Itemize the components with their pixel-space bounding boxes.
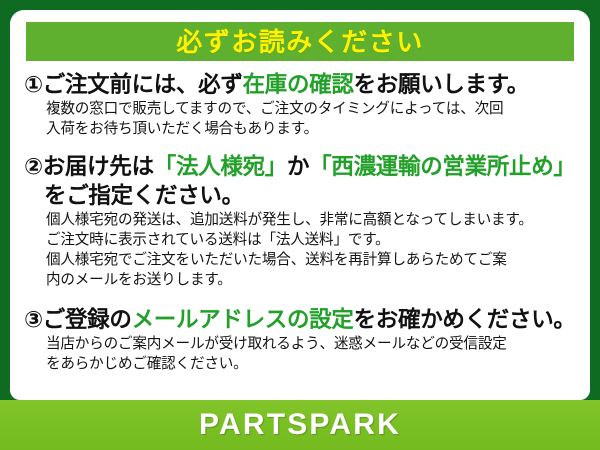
notice-item-2-head-part-3: か [287,154,309,179]
notice-items: ①ご注文前には、必ず在庫の確認をお願いします。 複数の窓口で販売してますので、ご… [24,68,582,377]
notice-item-3-body-line-2: をあらかじめご確認ください。 [46,355,582,375]
notice-item-2-heading: ②お届け先は「法人様宛」か「西濃運輸の営業所止め」 をご指定ください。 [24,152,582,211]
notice-item-2-body-line-4: 内のメールをお送りします。 [46,271,582,291]
notice-item-2-head-highlight-2: 「西濃運輸の営業所止め」 [309,154,575,179]
notice-item-1-marker: ① [24,72,43,97]
notice-item-1-body-line-1: 複数の窓口で販売してますので、ご注文のタイミングによっては、次回 [46,100,582,120]
notice-item-1-heading: ①ご注文前には、必ず在庫の確認をお願いします。 [24,70,582,99]
notice-item-1: ①ご注文前には、必ず在庫の確認をお願いします。 複数の窓口で販売してますので、ご… [24,70,582,140]
notice-item-3-heading: ③ご登録のメールアドレスの設定をお確かめください。 [24,305,582,334]
notice-item-1-body-line-2: 入荷をお待ち頂いただく場合もあります。 [46,120,582,140]
notice-item-2-body-line-1: 個人様宅宛の発送は、追加送料が発生し、非常に高額となってしまいます。 [46,211,582,231]
notice-item-3-head-part-3: をお確かめください。 [354,307,576,332]
notice-item-3-head-highlight: メールアドレスの設定 [132,307,354,332]
notice-item-2-head-continuation: をご指定ください。 [24,181,582,210]
notice-item-3: ③ご登録のメールアドレスの設定をお確かめください。 当店からのご案内メールが受け… [24,305,582,375]
notice-item-2-body-line-2: ご注文時に表示されている送料は「法人送料」です。 [46,231,582,251]
brand-name: PARTSPARK [199,410,401,440]
notice-title-banner: 必ずお読みください [26,22,574,61]
notice-item-3-body-line-1: 当店からのご案内メールが受け取れるよう、迷惑メールなどの受信設定 [46,335,582,355]
notice-item-2-head-highlight-1: 「法人様宛」 [154,154,287,179]
notice-item-3-head-part-1: ご登録の [43,307,132,332]
notice-item-1-head-part-3: をお願いします。 [354,72,529,97]
brand-footer: PARTSPARK [0,400,600,450]
notice-item-1-head-part-1: ご注文前には、必ず [43,72,243,97]
notice-card: 必ずお読みください ①ご注文前には、必ず在庫の確認をお願いします。 複数の窓口で… [0,0,600,450]
notice-item-2-body: 個人様宅宛の発送は、追加送料が発生し、非常に高額となってしまいます。 ご注文時に… [24,211,582,290]
notice-item-2-marker: ② [24,154,43,179]
page-title: 必ずお読みください [176,29,424,55]
notice-item-2: ②お届け先は「法人様宛」か「西濃運輸の営業所止め」 をご指定ください。 個人様宅… [24,152,582,291]
notice-item-3-marker: ③ [24,307,43,332]
notice-item-2-body-line-3: 個人様宅宛でご注文をいただいた場合、送料を再計算しあらためてご案 [46,251,582,271]
notice-item-3-body: 当店からのご案内メールが受け取れるよう、迷惑メールなどの受信設定 をあらかじめご… [24,335,582,375]
notice-panel: 必ずお読みください ①ご注文前には、必ず在庫の確認をお願いします。 複数の窓口で… [10,10,590,400]
notice-item-1-body: 複数の窓口で販売してますので、ご注文のタイミングによっては、次回 入荷をお待ち頂… [24,100,582,140]
notice-item-2-head-part-1: お届け先は [43,154,154,179]
notice-item-1-head-highlight: 在庫の確認 [243,72,354,97]
